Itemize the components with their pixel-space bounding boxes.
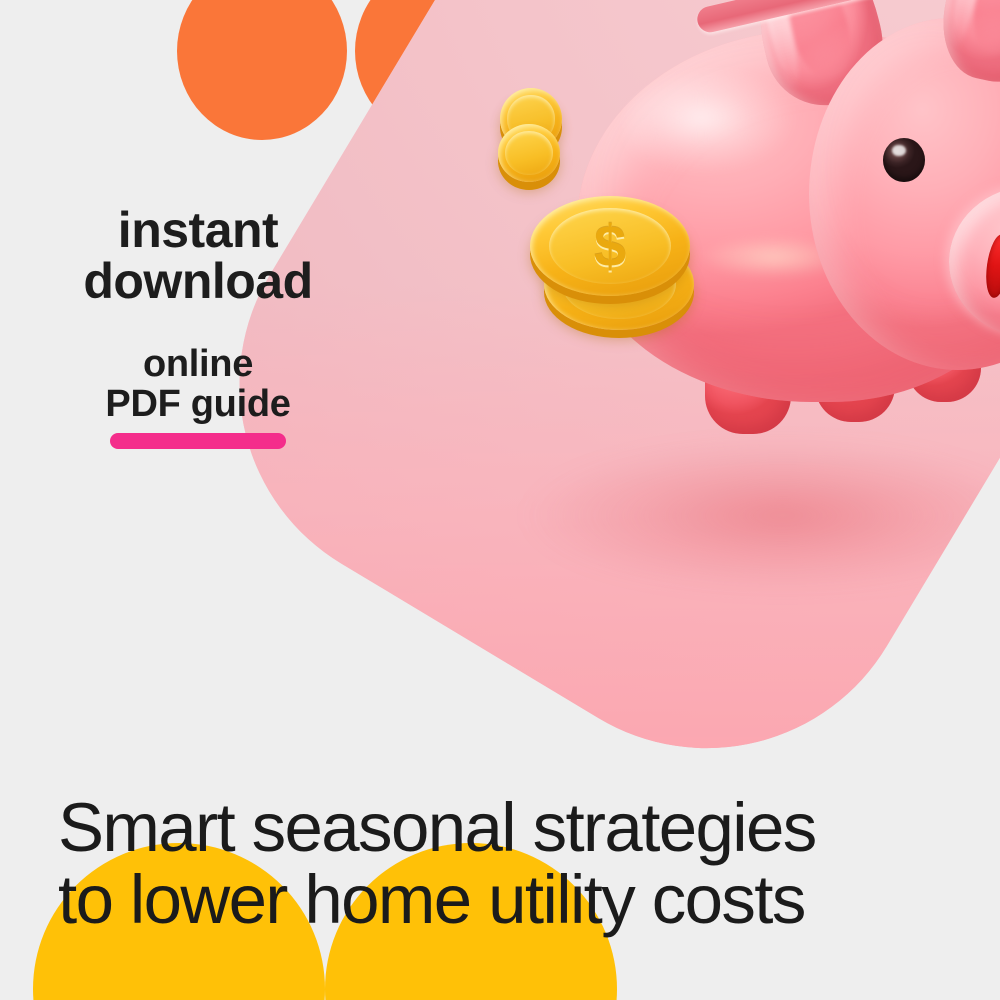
promo-eyebrow: instant download	[40, 205, 356, 307]
gold-coin-lower	[544, 238, 694, 330]
piggy-bank-snout	[949, 186, 1000, 338]
page-title: Smart seasonal strategies to lower home …	[58, 792, 958, 937]
dollar-sign-icon: $	[530, 196, 690, 296]
gold-coin-small-bottom-face	[505, 131, 552, 175]
promo-badge: instant download online PDF guide	[40, 205, 356, 424]
promo-eyebrow-line-1: instant	[118, 202, 278, 258]
gold-coin-stack: $	[492, 88, 722, 338]
piggy-bank-leg-front-left	[705, 338, 791, 434]
piggy-bank-ear-left-inner	[778, 0, 860, 84]
gold-coin-small-top-face	[507, 95, 554, 142]
poster-canvas: $ instant download online PDF guide Smar…	[0, 0, 1000, 1000]
promo-subhead-line-1: online	[143, 343, 253, 385]
promo-subhead: online PDF guide	[40, 345, 356, 424]
piggy-bank-head	[809, 18, 1000, 370]
piggy-bank-ear-left-rim	[754, 0, 805, 92]
piggy-bank-ear-right-rim	[945, 0, 992, 50]
orange-circle-2	[355, 0, 527, 140]
piggy-bank-ear-left	[740, 0, 896, 118]
accent-underline-bar	[110, 433, 286, 449]
piggy-bank-leg-front-right	[815, 330, 895, 422]
piggy-bank-leg-back	[907, 320, 981, 402]
piggy-bank-eye-left-highlight	[892, 145, 905, 156]
piggy-bank-shadow	[523, 439, 1000, 592]
gold-coin-small-bottom	[498, 124, 560, 182]
piggy-bank-nostril-left	[983, 233, 1000, 299]
promo-subhead-line-2: PDF guide	[105, 383, 290, 425]
promo-eyebrow-line-2: download	[83, 253, 312, 309]
piggy-bank-ear-right-inner	[966, 0, 1000, 58]
gold-coin-upper-face	[549, 208, 671, 284]
piggy-bank-ear-right	[932, 0, 1000, 91]
gold-coin-upper: $	[530, 196, 690, 296]
piggy-bank-body-reflection	[699, 236, 849, 278]
piggy-bank-body-highlight	[625, 74, 815, 184]
piggy-bank-coin-slot	[695, 0, 902, 35]
piggy-bank-body	[577, 30, 1000, 402]
piggy-bank-eye-left	[883, 138, 925, 182]
orange-circle-1	[177, 0, 347, 140]
piggy-bank-illustration	[577, 8, 1000, 438]
gold-coin-lower-face	[562, 249, 676, 319]
